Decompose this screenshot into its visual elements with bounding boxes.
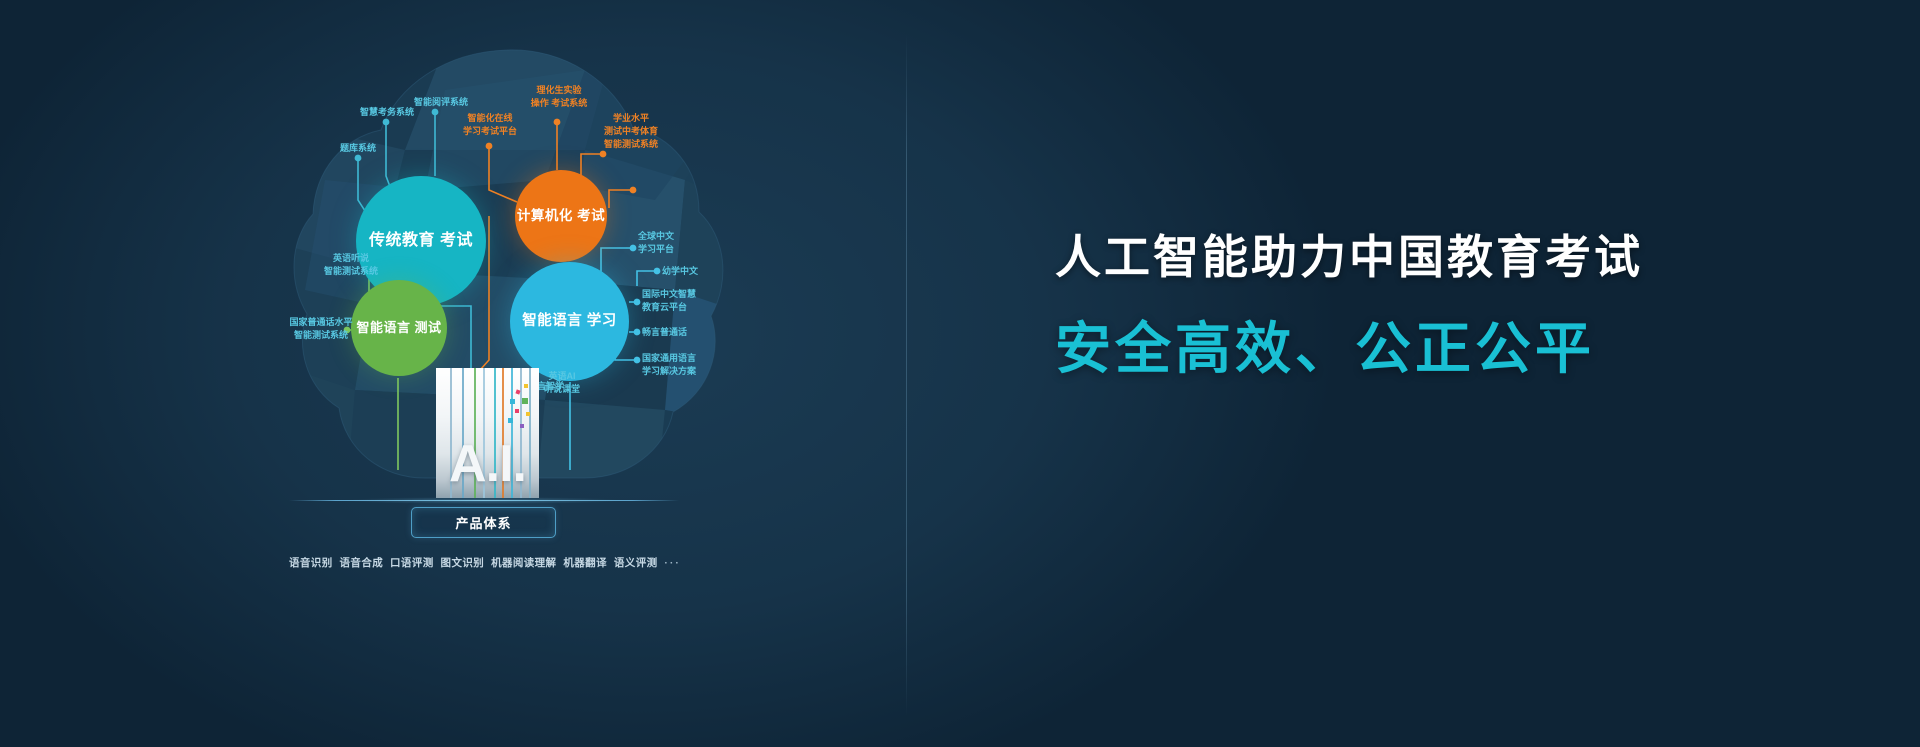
label-international-chinese-smart-education-cloud: 国际中文智慧 教育云平台 [642,288,734,314]
baseline-rule [289,500,679,501]
capability-tag[interactable]: 口语评测 [390,555,434,570]
label-national-mandarin-proficiency-intelligent-test-system: 国家普通话水平 智能测试系统 [273,316,369,342]
label-changyan-mandarin: 畅言普通话 [642,326,732,339]
label-global-chinese-learning-platform: 全球中文 学习平台 [638,230,718,256]
banner-subheadline: 安全高效、公正公平 [1055,315,1755,382]
capability-tag-list: 语音识别 语音合成 口语评测 图文识别 机器阅读理解 机器翻译 语义评测 ··· [285,555,685,570]
capability-tag[interactable]: 图文识别 [441,555,485,570]
label-intelligent-online-learning-exam-platform: 智能化在线 学习考试平台 [448,112,532,138]
ai-logo-text: A.I. [436,434,539,494]
label-english-listening-speaking-intelligent-test-system: 英语听说 智能测试系统 [307,252,395,278]
banner-headline: 人工智能助力中国教育考试 [1055,230,1755,285]
product-system-button[interactable]: 产品体系 [411,507,556,538]
node-label: 智能语言 学习 [522,312,617,331]
node-label: 传统教育 考试 [369,231,473,251]
capability-tag[interactable]: 语义评测 [614,555,658,570]
banner-stage: 传统教育 考试 计算机化 考试 智能语言 学习 智能语言 测试 智慧考务系统 智… [0,0,1920,747]
ai-logo-block: A.I. [436,368,539,498]
label-intelligent-marking-system: 智能阅评系统 [401,96,481,109]
node-computerized-exam[interactable]: 计算机化 考试 [515,170,607,262]
label-national-common-language-learning-solution: 国家通用语言 学习解决方案 [642,352,734,378]
capability-tag[interactable]: 语音识别 [289,555,333,570]
vertical-divider [906,34,907,716]
capability-tag[interactable]: 机器翻译 [563,555,607,570]
node-label: 智能语言 测试 [356,320,441,337]
capability-tag-more[interactable]: ··· [664,557,681,569]
label-youth-chinese: 幼学中文 [662,265,742,278]
node-label: 计算机化 考试 [517,207,605,224]
label-physics-chemistry-biology-lab-exam-system: 理化生实验 操作 考试系统 [517,84,601,110]
ai-education-diagram: 传统教育 考试 计算机化 考试 智能语言 学习 智能语言 测试 智慧考务系统 智… [285,30,905,720]
label-academic-level-pe-intelligent-testing-system: 学业水平 测试中考体育 智能测试系统 [588,112,674,150]
label-question-bank-system: 题库系统 [323,142,393,155]
product-system-label: 产品体系 [455,513,511,532]
node-intelligent-language-learning[interactable]: 智能语言 学习 [510,262,629,381]
capability-tag[interactable]: 语音合成 [340,555,384,570]
banner-copy: 人工智能助力中国教育考试 安全高效、公正公平 [1055,230,1755,382]
capability-tag[interactable]: 机器阅读理解 [491,555,556,570]
